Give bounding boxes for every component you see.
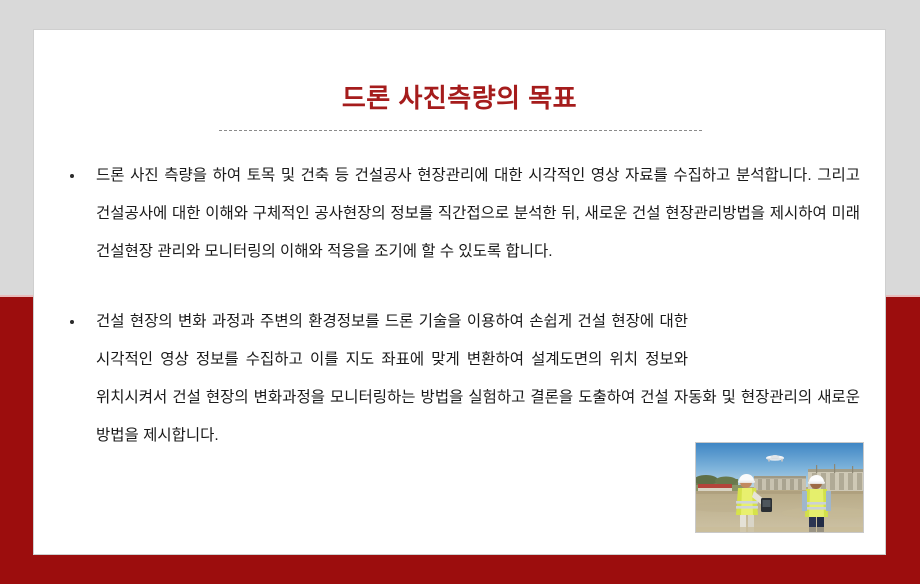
- slide-content-card: 드론 사진측량의 목표 드론 사진 측량을 하여 토목 및 건축 등 건설공사 …: [34, 30, 885, 554]
- bullet-marker-icon: [70, 174, 74, 178]
- bullet-marker-icon: [70, 320, 74, 324]
- photo-text-wrap-spacer: [688, 303, 860, 355]
- bullet-paragraph-1: 드론 사진 측량을 하여 토목 및 건축 등 건설공사 현장관리에 대한 시각적…: [60, 157, 860, 271]
- construction-site-drone-photo: [695, 442, 864, 533]
- body-content: 드론 사진 측량을 하여 토목 및 건축 등 건설공사 현장관리에 대한 시각적…: [60, 157, 860, 455]
- page-title: 드론 사진측량의 목표: [34, 78, 885, 115]
- presentation-slide: 드론 사진측량의 목표 드론 사진 측량을 하여 토목 및 건축 등 건설공사 …: [0, 0, 920, 584]
- title-divider: [219, 130, 702, 131]
- bullet-paragraph-1-text: 드론 사진 측량을 하여 토목 및 건축 등 건설공사 현장관리에 대한 시각적…: [96, 167, 860, 260]
- bullet-paragraph-2: 건설 현장의 변화 과정과 주변의 환경정보를 드론 기술을 이용하여 손쉽게 …: [60, 303, 860, 455]
